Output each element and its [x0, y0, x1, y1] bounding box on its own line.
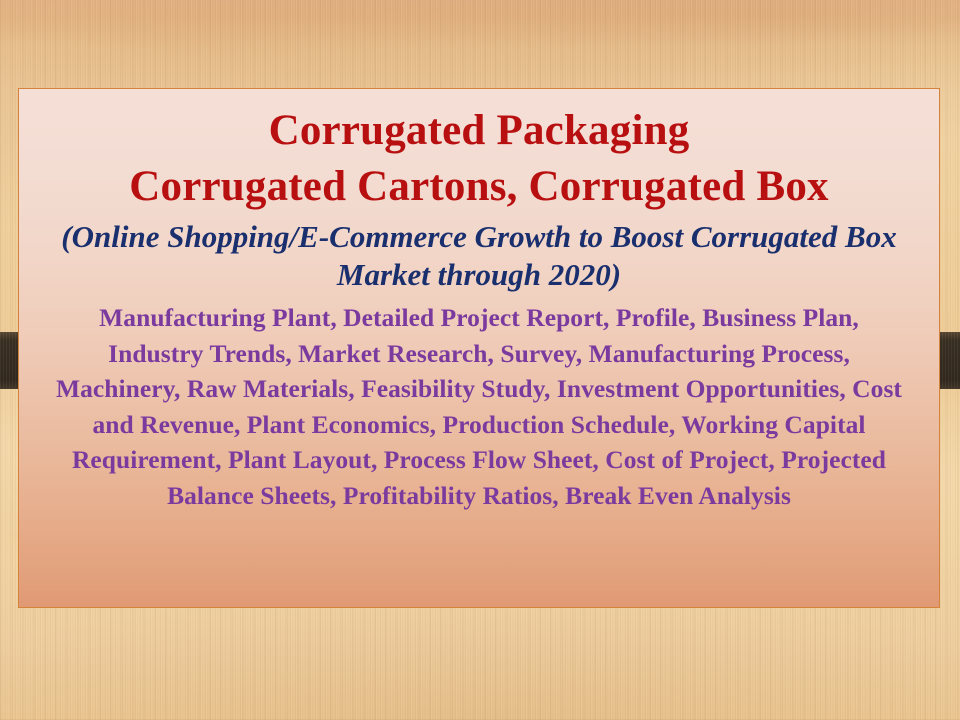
- title-line-2: Corrugated Cartons, Corrugated Box: [33, 159, 925, 215]
- title-line-1: Corrugated Packaging: [33, 103, 925, 159]
- title-card: Corrugated Packaging Corrugated Cartons,…: [18, 88, 940, 608]
- body-text: Manufacturing Plant, Detailed Project Re…: [33, 300, 925, 514]
- subtitle-text: (Online Shopping/E-Commerce Growth to Bo…: [33, 218, 925, 294]
- slide-canvas: Corrugated Packaging Corrugated Cartons,…: [0, 0, 960, 720]
